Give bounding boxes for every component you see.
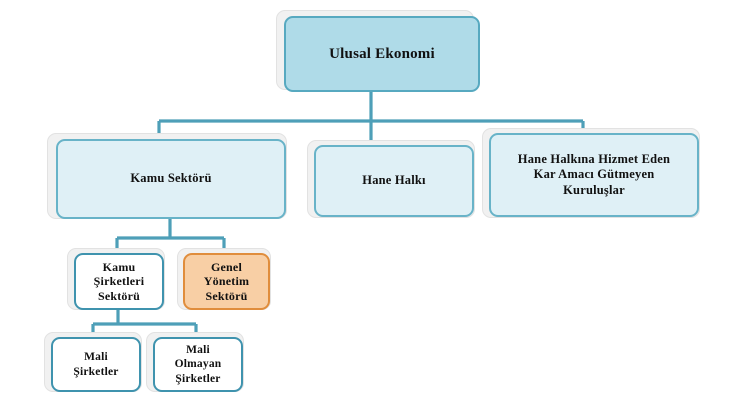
node-kamu-sektoru[interactable]: Kamu Sektörü xyxy=(56,139,286,219)
node-kamu-sirketleri-sektoru[interactable]: Kamu Şirketleri Sektörü xyxy=(74,253,164,310)
node-mali-sirketler[interactable]: Mali Şirketler xyxy=(51,337,141,392)
organization-chart: Ulusal Ekonomi Kamu Sektörü Hane Halkı H… xyxy=(0,0,740,420)
node-ulusal-ekonomi[interactable]: Ulusal Ekonomi xyxy=(284,16,480,92)
node-label-hane-halkina-hizmet-eden: Hane Halkına Hizmet Eden Kar Amacı Gütme… xyxy=(491,152,697,198)
node-mali-olmayan-sirketler[interactable]: Mali Olmayan Şirketler xyxy=(153,337,243,392)
node-label-hane-halki: Hane Halkı xyxy=(316,173,472,188)
node-label-ulusal-ekonomi: Ulusal Ekonomi xyxy=(286,45,478,63)
node-label-genel-yonetim-sektoru: Genel Yönetim Sektörü xyxy=(185,260,268,304)
node-hane-halki[interactable]: Hane Halkı xyxy=(314,145,474,217)
node-hane-halkina-hizmet-eden[interactable]: Hane Halkına Hizmet Eden Kar Amacı Gütme… xyxy=(489,133,699,217)
node-label-mali-olmayan-sirketler: Mali Olmayan Şirketler xyxy=(155,343,241,385)
node-label-kamu-sektoru: Kamu Sektörü xyxy=(58,171,284,186)
node-label-mali-sirketler: Mali Şirketler xyxy=(53,350,139,378)
node-genel-yonetim-sektoru[interactable]: Genel Yönetim Sektörü xyxy=(183,253,270,310)
node-label-kamu-sirketleri-sektoru: Kamu Şirketleri Sektörü xyxy=(76,260,162,304)
